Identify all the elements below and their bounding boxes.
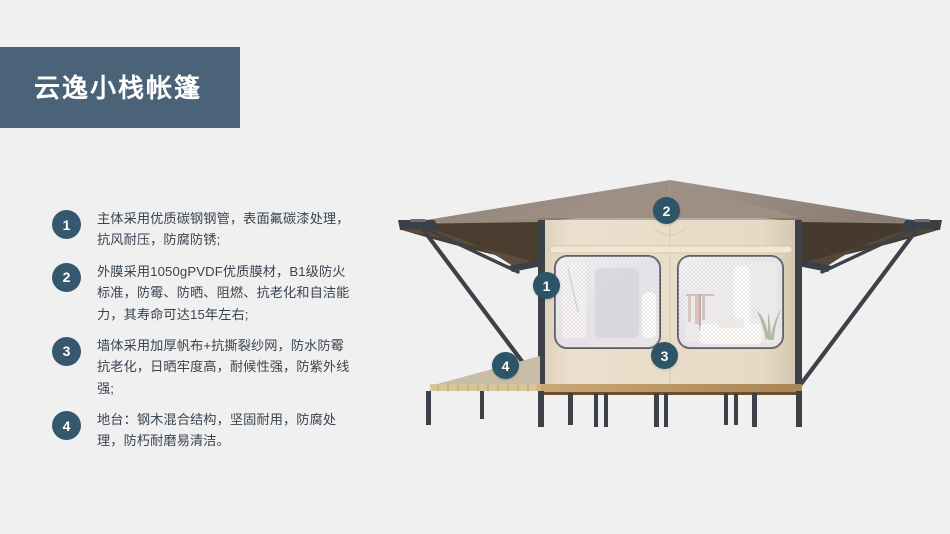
list-item: 3 墙体采用加厚帆布+抗撕裂纱网，防水防霉抗老化，日晒牢度高，耐候性强，防紫外线… — [52, 335, 352, 399]
page-title: 云逸小栈帐篷 — [34, 75, 202, 101]
list-item: 2 外膜采用1050gPVDF优质膜材，B1级防火标准，防霉、防晒、阻燃、抗老化… — [52, 261, 352, 325]
deck-side-edge — [430, 384, 540, 391]
feature-description: 主体采用优质碳钢钢管，表面氟碳漆处理，抗风耐压，防腐防锈; — [97, 208, 352, 251]
feature-number-badge: 2 — [52, 263, 81, 292]
platform-legs — [426, 391, 802, 427]
roller-blind-bar — [550, 246, 792, 253]
callout-badge-2: 2 — [653, 197, 680, 224]
feature-description: 外膜采用1050gPVDF优质膜材，B1级防火标准，防霉、防晒、阻燃、抗老化和自… — [97, 261, 352, 325]
corner-post-right — [795, 220, 802, 388]
deck-main-edge — [540, 384, 802, 393]
list-item: 1 主体采用优质碳钢钢管，表面氟碳漆处理，抗风耐压，防腐防锈; — [52, 208, 352, 251]
feature-description: 地台：钢木混合结构，坚固耐用，防腐处理，防朽耐磨易清洁。 — [97, 409, 352, 452]
feature-number-badge: 4 — [52, 411, 81, 440]
callout-badge-1: 1 — [533, 272, 560, 299]
window-left — [555, 256, 660, 348]
callout-badge-3: 3 — [651, 342, 678, 369]
deck-shadow-band — [540, 392, 802, 395]
deck-side-surface — [430, 356, 540, 386]
list-item: 4 地台：钢木混合结构，坚固耐用，防腐处理，防朽耐磨易清洁。 — [52, 409, 352, 452]
title-banner: 云逸小栈帐篷 — [0, 47, 240, 128]
feature-description: 墙体采用加厚帆布+抗撕裂纱网，防水防霉抗老化，日晒牢度高，耐候性强，防紫外线强; — [97, 335, 352, 399]
callout-badge-4: 4 — [492, 352, 519, 379]
feature-number-badge: 3 — [52, 337, 81, 366]
feature-number-badge: 1 — [52, 210, 81, 239]
window-right — [678, 256, 783, 348]
feature-list: 1 主体采用优质碳钢钢管，表面氟碳漆处理，抗风耐压，防腐防锈; 2 外膜采用10… — [52, 208, 352, 462]
